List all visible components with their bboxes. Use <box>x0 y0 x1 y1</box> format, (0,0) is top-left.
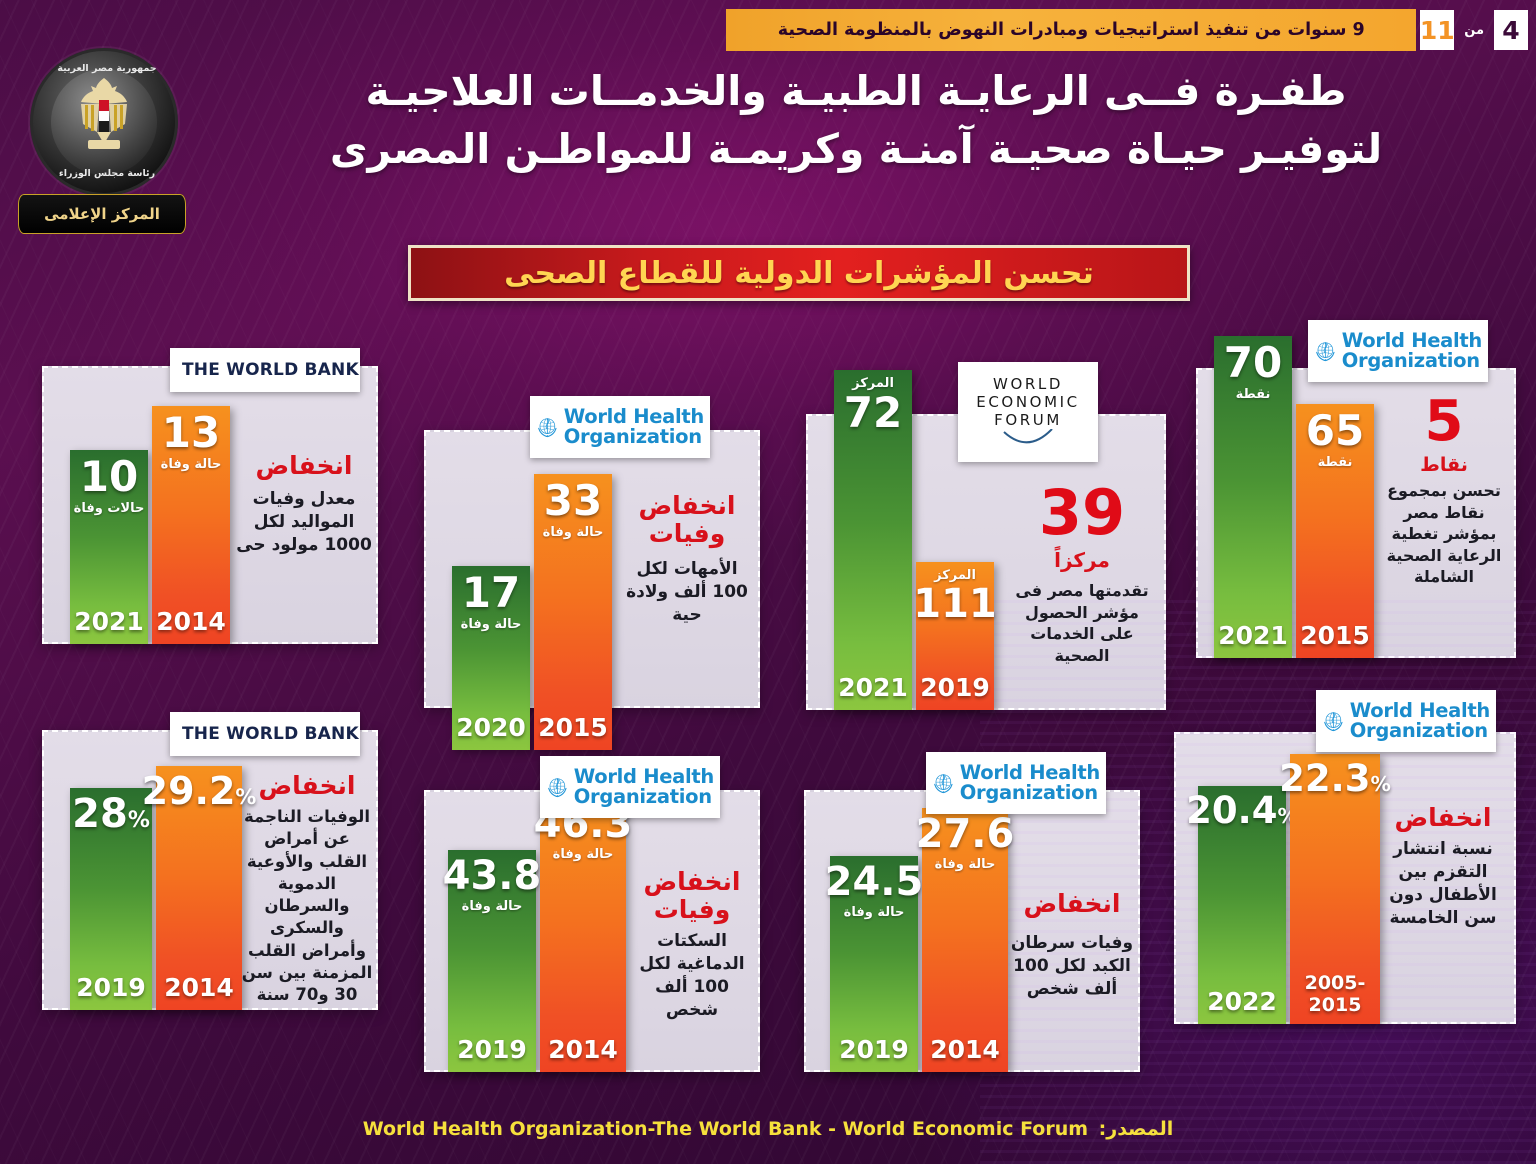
card-stroke-mortality: World Health Organization 43.8 حالة وفاة… <box>424 790 760 1072</box>
bar-unit: حالات وفاة <box>74 502 145 517</box>
card-body-text: الوفيات الناجمة عن أمراض القلب والأوعية … <box>240 806 374 1006</box>
wef-logo-line-3: FORUM <box>994 411 1062 429</box>
bar-value: 72 <box>844 392 902 434</box>
card-description: انخفاض وفيات الأمهات لكل 100 ألف ولادة ح… <box>620 492 754 627</box>
bar-value: 65 <box>1306 410 1364 452</box>
card-description: 5 نقاط تحسن بمجموع نقاط مصر بمؤشر تغطية … <box>1378 394 1510 588</box>
card-description: انخفاض معدل وفيات المواليد لكل 1000 مولو… <box>236 452 372 557</box>
card-child-stunting: World Health Organization 20.4% 2022 22.… <box>1174 732 1516 1024</box>
page-title-line-2: لتوفيـر حيـاة صحيـة آمنـة وكريمـة للمواط… <box>196 120 1516 178</box>
card-uhc-coverage-index: World Health Organization 70 نقطة 2021 6… <box>1196 368 1516 658</box>
card-body-text: تقدمتها مصر فى مؤشر الحصول على الخدمات ا… <box>1008 580 1156 666</box>
bar-2020: 17 حالة وفاة 2020 <box>452 566 530 750</box>
card-liver-cancer-mortality: World Health Organization 24.5 حالة وفاة… <box>804 790 1140 1072</box>
card-headline: انخفاض <box>1008 890 1136 918</box>
bar-2019: المركز 111 2019 <box>916 562 994 710</box>
card-description: انخفاض نسبة انتشار التقزم بين الأطفال دو… <box>1378 804 1508 930</box>
bar-2022: 20.4% 2022 <box>1198 786 1286 1024</box>
bar-year: 2005-2015 <box>1290 972 1380 1016</box>
bar-2015: 33 حالة وفاة 2015 <box>534 474 612 750</box>
wef-swoosh-icon <box>1001 429 1055 449</box>
card-body-text: تحسن بمجموع نقاط مصر بمؤشر تغطية الرعاية… <box>1378 480 1510 588</box>
source-footer: المصدر: World Health Organization-The Wo… <box>0 1118 1536 1140</box>
who-logo-line-2: Organization <box>960 781 1098 804</box>
card-health-services-rank: WORLD ECONOMIC FORUM المركز 72 2021 المر… <box>806 414 1166 710</box>
bar-value: 10 <box>80 456 138 498</box>
bar-unit: حالة وفاة <box>844 906 905 921</box>
who-logo: World Health Organization <box>530 396 710 458</box>
who-logo: World Health Organization <box>1316 690 1496 752</box>
source-value: World Health Organization-The World Bank… <box>363 1118 1088 1140</box>
logo-arc-top-text: جمهورية مصر العربية <box>33 63 181 74</box>
who-logo: World Health Organization <box>1308 320 1488 382</box>
card-headline: انخفاض <box>236 452 372 480</box>
bar-year: 2019 <box>70 973 152 1002</box>
bar-2021: المركز 72 2021 <box>834 370 912 710</box>
bar-year: 2022 <box>1198 987 1286 1016</box>
card-headline: انخفاض <box>240 772 374 800</box>
card-headline-unit: نقاط <box>1378 454 1510 476</box>
logo-disc: جمهورية مصر العربية رئاسة مجلس الوزر <box>30 48 178 196</box>
bar-unit: حالة وفاة <box>935 858 996 873</box>
card-ncd-mortality: THE WORLD BANK 28% 2019 29.2% 2014 انخفا… <box>42 730 378 1010</box>
card-description: 39 مركزاً تقدمتها مصر فى مؤشر الحصول على… <box>1008 482 1156 666</box>
bar-value: 13 <box>162 412 220 454</box>
bar-year: 2014 <box>922 1035 1008 1064</box>
bar-value: 33 <box>544 480 602 522</box>
bar-2019: 24.5 حالة وفاة 2019 <box>830 856 918 1072</box>
top-bar: 4 من 11 9 سنوات من تنفيذ استراتيجيات ومب… <box>0 6 1536 54</box>
bar-value: 22.3% <box>1279 760 1391 797</box>
bar-value: 17 <box>462 572 520 614</box>
bar-year: 2021 <box>1214 621 1292 650</box>
card-headline-unit: مركزاً <box>1008 548 1156 572</box>
bar-2019: 43.8 حالة وفاة 2019 <box>448 850 536 1072</box>
card-headline-value: 5 <box>1378 394 1510 450</box>
bar-year: 2021 <box>70 607 148 636</box>
who-logo-text: World Health Organization <box>1350 701 1490 741</box>
card-body-text: وفيات سرطان الكبد لكل 100 ألف شخص <box>1008 932 1136 1001</box>
card-body-text: معدل وفيات المواليد لكل 1000 مولود حى <box>236 488 372 557</box>
card-description: انخفاض وفيات سرطان الكبد لكل 100 ألف شخص <box>1008 890 1136 1001</box>
world-bank-logo: THE WORLD BANK <box>170 348 360 392</box>
who-logo-line-2: Organization <box>1350 719 1488 742</box>
bar-unit: نقطة <box>1318 456 1353 471</box>
who-logo: World Health Organization <box>926 752 1106 814</box>
who-logo-line-2: Organization <box>1342 349 1480 372</box>
bar-2021: 10 حالات وفاة 2021 <box>70 450 148 644</box>
eagle-of-saladin-icon <box>61 74 147 158</box>
card-infant-mortality: THE WORLD BANK 10 حالات وفاة 2021 13 حال… <box>42 366 378 644</box>
bar-2014: 27.6 حالة وفاة 2014 <box>922 808 1008 1072</box>
top-bar-strip-text: 9 سنوات من تنفيذ استراتيجيات ومبادرات ال… <box>726 9 1416 51</box>
bar-2014: 46.3 حالة وفاة 2014 <box>540 798 626 1072</box>
bar-unit: حالة وفاة <box>161 458 222 473</box>
bar-2014: 13 حالة وفاة 2014 <box>152 406 230 644</box>
wef-logo-line-2: ECONOMIC <box>976 393 1079 411</box>
bar-unit: حالة وفاة <box>461 618 522 633</box>
bar-year: 2014 <box>156 973 242 1002</box>
card-body-text: السكتات الدماغية لكل 100 ألف شخص <box>628 930 756 1022</box>
infographic-page: 4 من 11 9 سنوات من تنفيذ استراتيجيات ومب… <box>0 0 1536 1164</box>
wef-logo-line-1: WORLD <box>993 375 1063 393</box>
bar-year: 2014 <box>540 1035 626 1064</box>
page-title: طفـرة فــى الرعايـة الطبيـة والخدمــات ا… <box>196 62 1516 178</box>
bar-year: 2019 <box>448 1035 536 1064</box>
who-logo-text: World Health Organization <box>564 407 704 447</box>
who-emblem-icon <box>1322 695 1345 747</box>
who-logo-text: World Health Organization <box>574 767 714 807</box>
who-logo-text: World Health Organization <box>960 763 1100 803</box>
card-headline: انخفاض وفيات <box>620 492 754 548</box>
who-logo-line-2: Organization <box>564 425 702 448</box>
who-logo: World Health Organization <box>540 756 720 818</box>
bar-2019: 28% 2019 <box>70 788 152 1010</box>
bar-year: 2015 <box>1296 621 1374 650</box>
bar-unit: حالة وفاة <box>462 900 523 915</box>
bar-value: 43.8 <box>443 856 542 896</box>
who-emblem-icon <box>1314 325 1337 377</box>
card-description: انخفاض وفيات السكتات الدماغية لكل 100 أل… <box>628 868 756 1022</box>
bar-value: 24.5 <box>825 862 924 902</box>
bar-year: 2015 <box>534 713 612 742</box>
card-headline: انخفاض <box>1378 804 1508 832</box>
page-number-total: 11 <box>1420 10 1454 50</box>
bar-unit: حالة وفاة <box>553 848 614 863</box>
bar-year: 2019 <box>830 1035 918 1064</box>
page-number-separator: من <box>1464 23 1484 38</box>
bar-2005-2015: 22.3% 2005-2015 <box>1290 754 1380 1024</box>
card-maternal-mortality: World Health Organization 17 حالة وفاة 2… <box>424 430 760 708</box>
bar-value: 27.6 <box>916 814 1015 854</box>
wef-logo-text: WORLD ECONOMIC FORUM <box>976 375 1079 430</box>
bar-value: 70 <box>1224 342 1282 384</box>
source-label: المصدر: <box>1099 1118 1174 1140</box>
page-number-current: 4 <box>1494 10 1528 50</box>
card-headline-value: 39 <box>1008 482 1156 544</box>
bar-unit: نقطة <box>1236 388 1271 403</box>
card-body-text: نسبة انتشار التقزم بين الأطفال دون سن ال… <box>1378 838 1508 930</box>
section-banner-text: تحسن المؤشرات الدولية للقطاع الصحى <box>504 256 1094 291</box>
who-logo-text: World Health Organization <box>1342 331 1482 371</box>
who-emblem-icon <box>932 757 955 809</box>
logo-arc-bottom-text: رئاسة مجلس الوزراء <box>33 168 181 179</box>
who-emblem-icon <box>546 761 569 813</box>
bar-year: 2020 <box>452 713 530 742</box>
bar-2014: 29.2% 2014 <box>156 766 242 1010</box>
page-title-line-1: طفـرة فــى الرعايـة الطبيـة والخدمــات ا… <box>196 62 1516 120</box>
who-logo-line-2: Organization <box>574 785 712 808</box>
card-headline: انخفاض وفيات <box>628 868 756 924</box>
cabinet-media-center-logo: جمهورية مصر العربية رئاسة مجلس الوزر <box>14 42 189 240</box>
world-bank-logo-text: THE WORLD BANK <box>182 360 359 380</box>
world-bank-logo-text: THE WORLD BANK <box>182 724 359 744</box>
who-emblem-icon <box>536 401 559 453</box>
bar-value: 28% <box>72 794 150 834</box>
bar-year: 2014 <box>152 607 230 636</box>
logo-ribbon-text: المركز الإعلامى <box>18 194 186 234</box>
bar-2015: 65 نقطة 2015 <box>1296 404 1374 658</box>
card-description: انخفاض الوفيات الناجمة عن أمراض القلب وا… <box>240 772 374 1006</box>
bar-value: 111 <box>913 584 997 624</box>
bar-year: 2021 <box>834 673 912 702</box>
world-bank-logo: THE WORLD BANK <box>170 712 360 756</box>
world-economic-forum-logo: WORLD ECONOMIC FORUM <box>958 362 1098 462</box>
card-body-text: الأمهات لكل 100 ألف ولادة حية <box>620 558 754 627</box>
bar-unit: حالة وفاة <box>543 526 604 541</box>
bar-year: 2019 <box>916 673 994 702</box>
bar-2021: 70 نقطة 2021 <box>1214 336 1292 658</box>
section-banner: تحسن المؤشرات الدولية للقطاع الصحى <box>408 245 1190 301</box>
